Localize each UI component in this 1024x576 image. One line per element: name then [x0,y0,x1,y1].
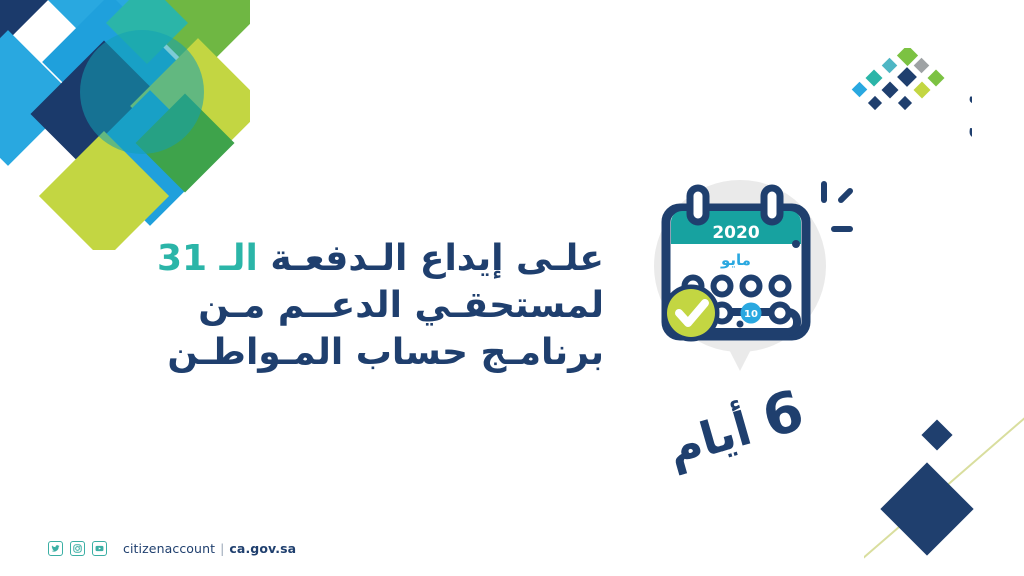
decorative-diamonds-bottom-right [864,416,1024,576]
logo-diamond-cluster [852,48,945,110]
calendar-highlighted-day: 10 [741,303,762,324]
footer-handle[interactable]: citizenaccount [123,541,215,556]
youtube-icon[interactable] [92,541,107,556]
brand-logo: حساب المواطن [822,48,972,140]
instagram-icon[interactable] [70,541,85,556]
decorative-mosaic-top-left [0,0,250,250]
headline-line-1-prefix: علـى إيداع الـدفعـة [258,238,604,279]
calendar-highlighted-day-number: 10 [744,309,758,320]
calendar-month: مايو [720,251,751,269]
footer-bar: citizenaccount|ca.gov.sa [48,541,296,556]
headline-line-1-highlight: الـ 31 [157,238,258,279]
footer-website[interactable]: ca.gov.sa [229,541,296,556]
countdown-unit: أيام [661,401,757,476]
countdown-badge: 6 أيام [645,378,825,468]
calendar-accent-dot-right [792,240,800,248]
poster-canvas: حساب المواطن علـى إيداع الـدفعـة الـ 31 … [0,0,1024,576]
countdown-number: 6 [755,378,810,451]
check-badge [666,288,716,338]
logo-wordmark-line1: حساب [968,81,972,110]
countdown-text: 6 أيام [640,372,831,484]
logo-wordmark-line2: المواطن [968,109,972,139]
twitter-icon[interactable] [48,541,63,556]
calendar-illustration: 2020 مايو 10 [628,166,858,381]
footer-contact: citizenaccount|ca.gov.sa [123,541,296,556]
calendar-accent-dot-bottom [737,321,744,328]
calendar-year: 2020 [712,223,759,243]
sparkle-marks [824,184,850,229]
footer-separator: | [220,541,224,556]
